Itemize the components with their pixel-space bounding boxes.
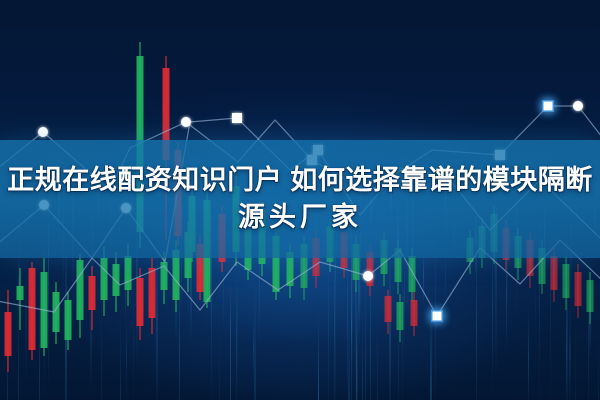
banner-title-block: 正规在线配资知识门户 如何选择靠谱的模块隔断 源头厂家 [0,140,600,258]
page-title-line-1: 正规在线配资知识门户 如何选择靠谱的模块隔断 [7,163,593,198]
page-title-line-2: 源头厂家 [238,200,362,235]
stock-banner: 正规在线配资知识门户 如何选择靠谱的模块隔断 源头厂家 [0,0,600,400]
